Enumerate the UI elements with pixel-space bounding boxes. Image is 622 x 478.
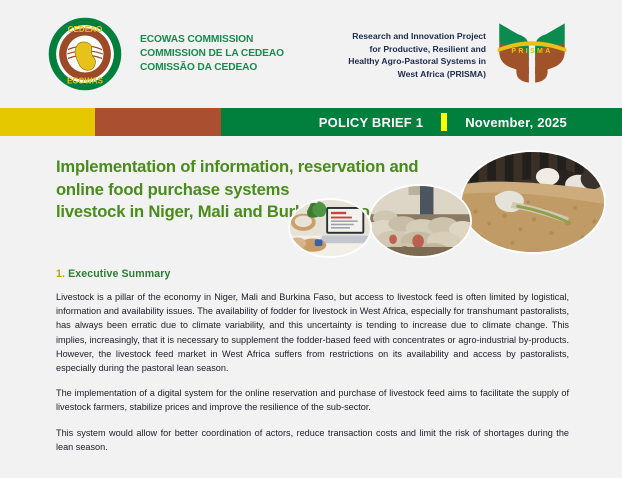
band-segment-yellow xyxy=(0,108,95,136)
prisma-project-line-1: Research and Innovation Project xyxy=(300,30,486,43)
ecowas-commission-text: ECOWAS COMMISSION COMMISSION DE LA CEDEA… xyxy=(140,33,284,76)
svg-text:PRISMA: PRISMA xyxy=(511,48,552,55)
page-title: Implementation of information, reservati… xyxy=(56,156,456,224)
section-title: Executive Summary xyxy=(68,268,170,280)
prisma-leaves-book-logo: PRISMA xyxy=(493,14,571,88)
paragraph: This system would allow for better coord… xyxy=(56,426,569,454)
photo-laptop-online-ordering xyxy=(288,198,372,258)
executive-summary-section: 1. Executive Summary Livestock is a pill… xyxy=(56,268,569,454)
ecowas-emblem-logo: CEDEAO ECOWAS xyxy=(48,17,122,91)
section-heading: 1. Executive Summary xyxy=(56,268,569,280)
paragraph: Livestock is a pillar of the economy in … xyxy=(56,290,569,375)
photo-cattle-eating-fodder xyxy=(460,150,606,254)
policy-brief-label: POLICY BRIEF 1 xyxy=(319,115,423,130)
title-and-photo-area: Implementation of information, reservati… xyxy=(0,136,622,258)
band-segment-brown xyxy=(95,108,221,136)
ecowas-commission-line-fr: COMMISSION DE LA CEDEAO xyxy=(140,47,284,61)
section-number: 1. xyxy=(56,268,65,280)
prisma-project-line-4: West Africa (PRISMA) xyxy=(300,68,486,81)
page-title-line-1: Implementation of information, reservati… xyxy=(56,156,456,179)
page-title-line-2: online food purchase systems xyxy=(56,179,456,202)
prisma-project-title: Research and Innovation Project for Prod… xyxy=(300,30,486,80)
page-title-line-3: livestock in Niger, Mali and Burkina Fas… xyxy=(56,201,456,224)
ecowas-commission-line-en: ECOWAS COMMISSION xyxy=(140,33,284,47)
prisma-project-line-2: for Productive, Resilient and xyxy=(300,43,486,56)
svg-text:ECOWAS: ECOWAS xyxy=(67,77,104,86)
document-header: CEDEAO ECOWAS ECOWAS COMMISSION COMMISSI… xyxy=(0,0,622,108)
band-separator xyxy=(441,113,447,131)
paragraph: The implementation of a digital system f… xyxy=(56,386,569,414)
svg-text:CEDEAO: CEDEAO xyxy=(68,25,103,34)
policy-brief-color-band: POLICY BRIEF 1 November, 2025 xyxy=(0,108,622,136)
band-segment-green: POLICY BRIEF 1 November, 2025 xyxy=(221,108,622,136)
ecowas-commission-line-pt: COMISSÃO DA CEDEAO xyxy=(140,61,284,75)
prisma-project-line-3: Healthy Agro-Pastoral Systems in xyxy=(300,55,486,68)
publication-date: November, 2025 xyxy=(465,115,567,130)
